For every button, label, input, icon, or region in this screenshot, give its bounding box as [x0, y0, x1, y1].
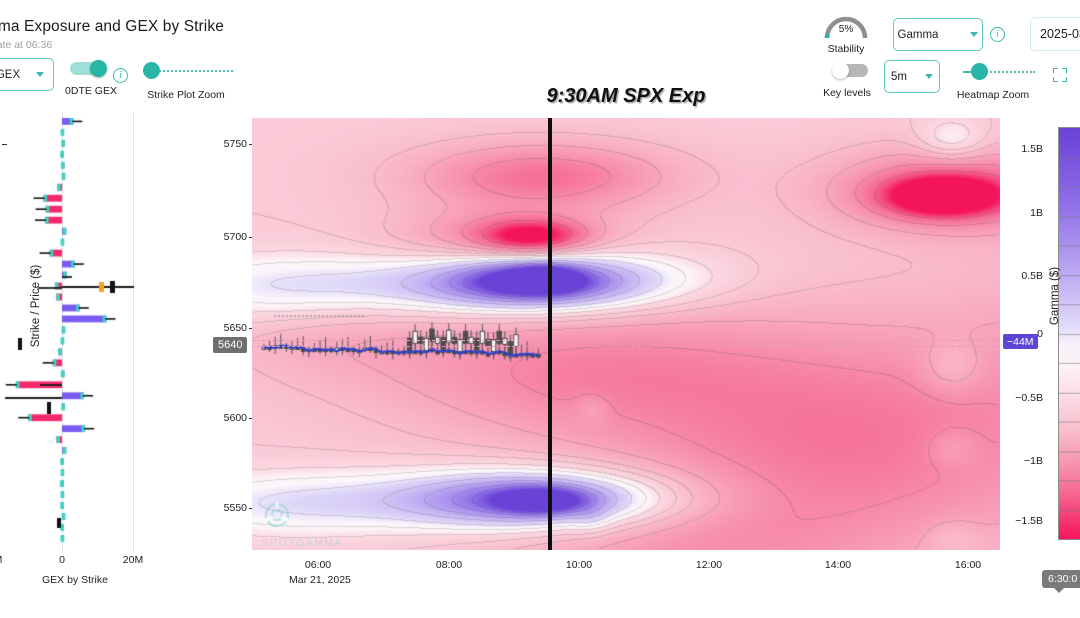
heatmap-x-tick-2: 10:00: [557, 559, 601, 571]
interval-value: 5m: [891, 71, 907, 83]
colorbar-tick-1: 1B: [1003, 207, 1043, 219]
chevron-down-icon: [925, 74, 933, 79]
spotgamma-watermark: SPOTGAMMA: [262, 500, 343, 549]
colorbar-tick-4: −0.5B: [1003, 392, 1043, 404]
strike-plot-zoom-slider[interactable]: [143, 62, 233, 80]
colorbar-tick-6: −1.5B: [1003, 515, 1043, 527]
page-title: Gamma Exposure and GEX by Strike: [0, 18, 224, 36]
toggle-knob: [832, 62, 849, 79]
odte-gex-label: 0DTE GEX: [60, 85, 122, 97]
current-time-marker: [548, 118, 552, 550]
colorbar-title: Gamma ($): [1049, 251, 1061, 341]
gamma-heatmap[interactable]: [252, 118, 1000, 550]
heatmap-y-tick-1: 5700: [213, 231, 247, 243]
stability-label: Stability: [823, 43, 869, 55]
heatmap-y-tick-0: 5750: [213, 138, 247, 150]
stability-value: 5%: [822, 24, 870, 35]
key-level-line: [252, 340, 1000, 341]
page-subtitle: for update at 06:36: [0, 39, 52, 51]
spotgamma-logo-icon: [262, 500, 292, 530]
info-icon[interactable]: i: [113, 68, 128, 83]
gex-metric-select[interactable]: GEX: [0, 58, 54, 91]
current-price-badge: 5640: [213, 337, 247, 353]
strike-x-tick-2: 20M: [113, 554, 153, 566]
colorbar-value-badge: −44M: [1003, 334, 1038, 349]
strike-x-tick-1: 0: [50, 554, 74, 566]
heatmap-date-label: Mar 21, 2025: [289, 574, 351, 586]
key-level-line: [252, 346, 1000, 347]
fullscreen-icon[interactable]: [1053, 68, 1067, 82]
expiration-date-input[interactable]: 2025-03-: [1030, 17, 1080, 51]
heatmap-title: 9:30AM SPX Exp: [252, 85, 1000, 108]
date-value: 2025-03-: [1040, 27, 1080, 41]
colorbar-tick-5: −1B: [1003, 455, 1043, 467]
gamma-colorbar: [1058, 127, 1080, 540]
gamma-metric-value: Gamma: [898, 29, 939, 41]
gamma-metric-select[interactable]: Gamma: [893, 18, 983, 51]
key-levels-toggle[interactable]: [832, 62, 874, 78]
spotgamma-hiro-dashboard: Gamma Exposure and GEX by Strike for upd…: [0, 0, 1080, 618]
heatmap-x-tick-0: 06:00: [296, 559, 340, 571]
slider-thumb[interactable]: [971, 63, 988, 80]
time-tooltip: 6:30:0: [1042, 570, 1080, 588]
strike-plot-zoom-label: Strike Plot Zoom: [145, 89, 227, 101]
strike-x-tick-0: M: [0, 554, 10, 566]
heatmap-zoom-slider[interactable]: [963, 63, 1035, 81]
gex-by-strike-axis-label: GEX by Strike: [10, 574, 140, 586]
chevron-down-icon: [36, 72, 44, 77]
stability-gauge: 5%: [822, 8, 870, 42]
toggle-knob: [90, 60, 107, 77]
heatmap-x-tick-3: 12:00: [687, 559, 731, 571]
spotgamma-watermark-text: SPOTGAMMA: [262, 537, 343, 549]
heatmap-y-tick-4: 5550: [213, 502, 247, 514]
info-icon[interactable]: i: [990, 27, 1005, 42]
heatmap-y-tick-2: 5650: [213, 322, 247, 334]
heatmap-x-tick-1: 08:00: [427, 559, 471, 571]
colorbar-tick-0: 1.5B: [1003, 143, 1043, 155]
heatmap-y-axis-title: Strike / Price ($): [30, 236, 42, 376]
heatmap-x-tick-4: 14:00: [816, 559, 860, 571]
odte-gex-toggle[interactable]: [70, 60, 112, 76]
colorbar-tick-2: 0.5B: [1003, 270, 1043, 282]
heatmap-surface[interactable]: [252, 118, 1000, 550]
gex-metric-value: GEX: [0, 69, 20, 81]
heatmap-x-tick-5: 16:00: [946, 559, 990, 571]
slider-thumb[interactable]: [143, 62, 160, 79]
chevron-down-icon: [970, 32, 978, 37]
heatmap-y-tick-3: 5600: [213, 412, 247, 424]
gex-by-strike-chart[interactable]: [0, 110, 180, 555]
